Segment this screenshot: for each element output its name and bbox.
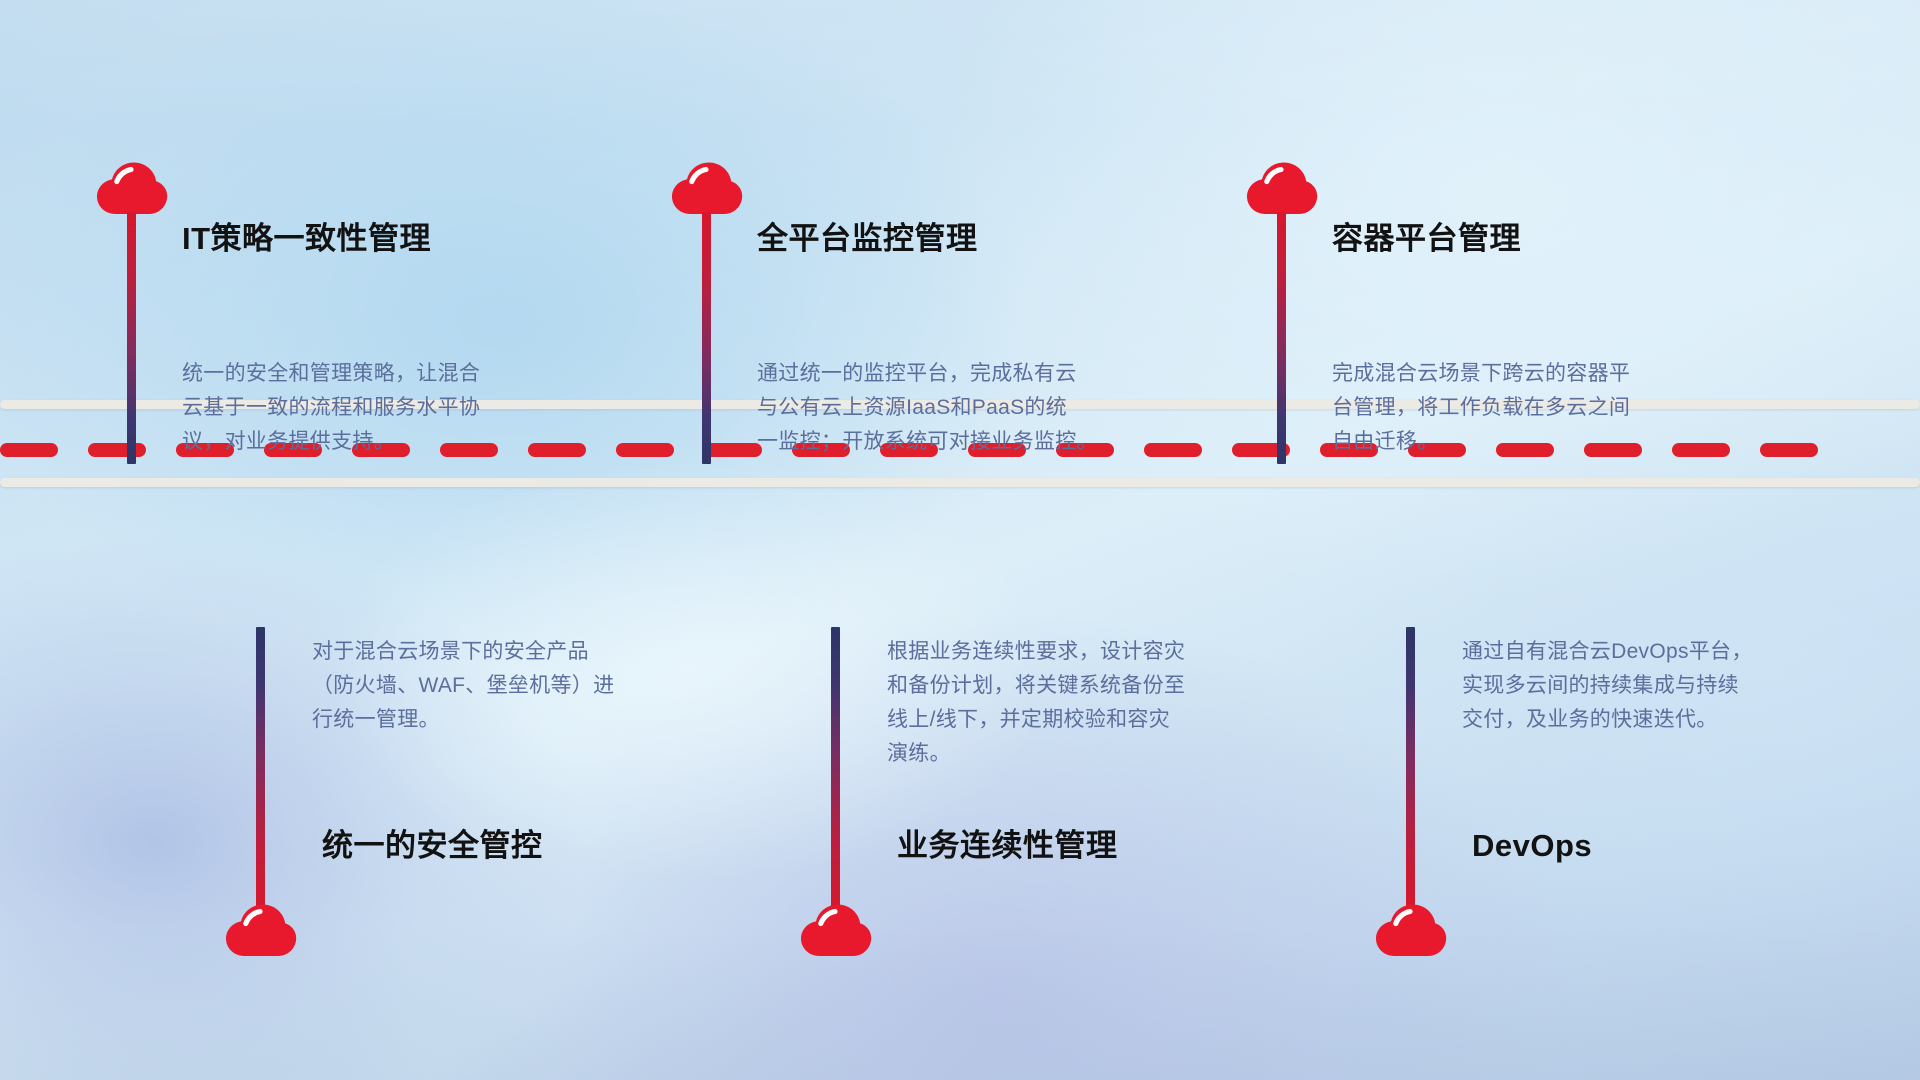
milestone-stem [127, 212, 136, 464]
milestone-title: IT策略一致性管理 [182, 220, 431, 257]
milestone-title: 容器平台管理 [1332, 220, 1521, 257]
infographic-canvas: IT策略一致性管理 统一的安全和管理策略，让混合 云基于一致的流程和服务水平协 … [0, 0, 1920, 1080]
milestone-title: 全平台监控管理 [757, 220, 978, 257]
road-dash [0, 443, 58, 457]
milestone-description: 通过自有混合云DevOps平台， 实现多云间的持续集成与持续 交付，及业务的快速… [1462, 635, 1902, 737]
cloud-icon [799, 902, 873, 958]
milestone-stem [1277, 212, 1286, 464]
milestone-description: 通过统一的监控平台，完成私有云 与公有云上资源IaaS和PaaS的统 一监控；开… [757, 357, 1207, 459]
milestone-title: DevOps [1472, 827, 1592, 864]
road-dash [616, 443, 674, 457]
road-edge-bottom [0, 478, 1920, 487]
road-dash [88, 443, 146, 457]
milestone-title: 统一的安全管控 [322, 827, 543, 864]
cloud-icon [1245, 160, 1319, 216]
milestone-title: 业务连续性管理 [897, 827, 1118, 864]
cloud-icon [1374, 902, 1448, 958]
cloud-icon [224, 902, 298, 958]
milestone-description: 统一的安全和管理策略，让混合 云基于一致的流程和服务水平协 议，对业务提供支持。 [182, 357, 622, 459]
milestone-description: 根据业务连续性要求，设计容灾 和备份计划，将关键系统备份至 线上/线下，并定期校… [887, 635, 1327, 771]
milestone-stem [702, 212, 711, 464]
milestone-stem [831, 627, 840, 914]
cloud-icon [670, 160, 744, 216]
milestone-stem [256, 627, 265, 914]
milestone-stem [1406, 627, 1415, 914]
road-dash [704, 443, 762, 457]
milestone-description: 对于混合云场景下的安全产品 （防火墙、WAF、堡垒机等）进 行统一管理。 [312, 635, 752, 737]
milestone-description: 完成混合云场景下跨云的容器平 台管理，将工作负载在多云之间 自由迁移。 [1332, 357, 1772, 459]
cloud-icon [95, 160, 169, 216]
